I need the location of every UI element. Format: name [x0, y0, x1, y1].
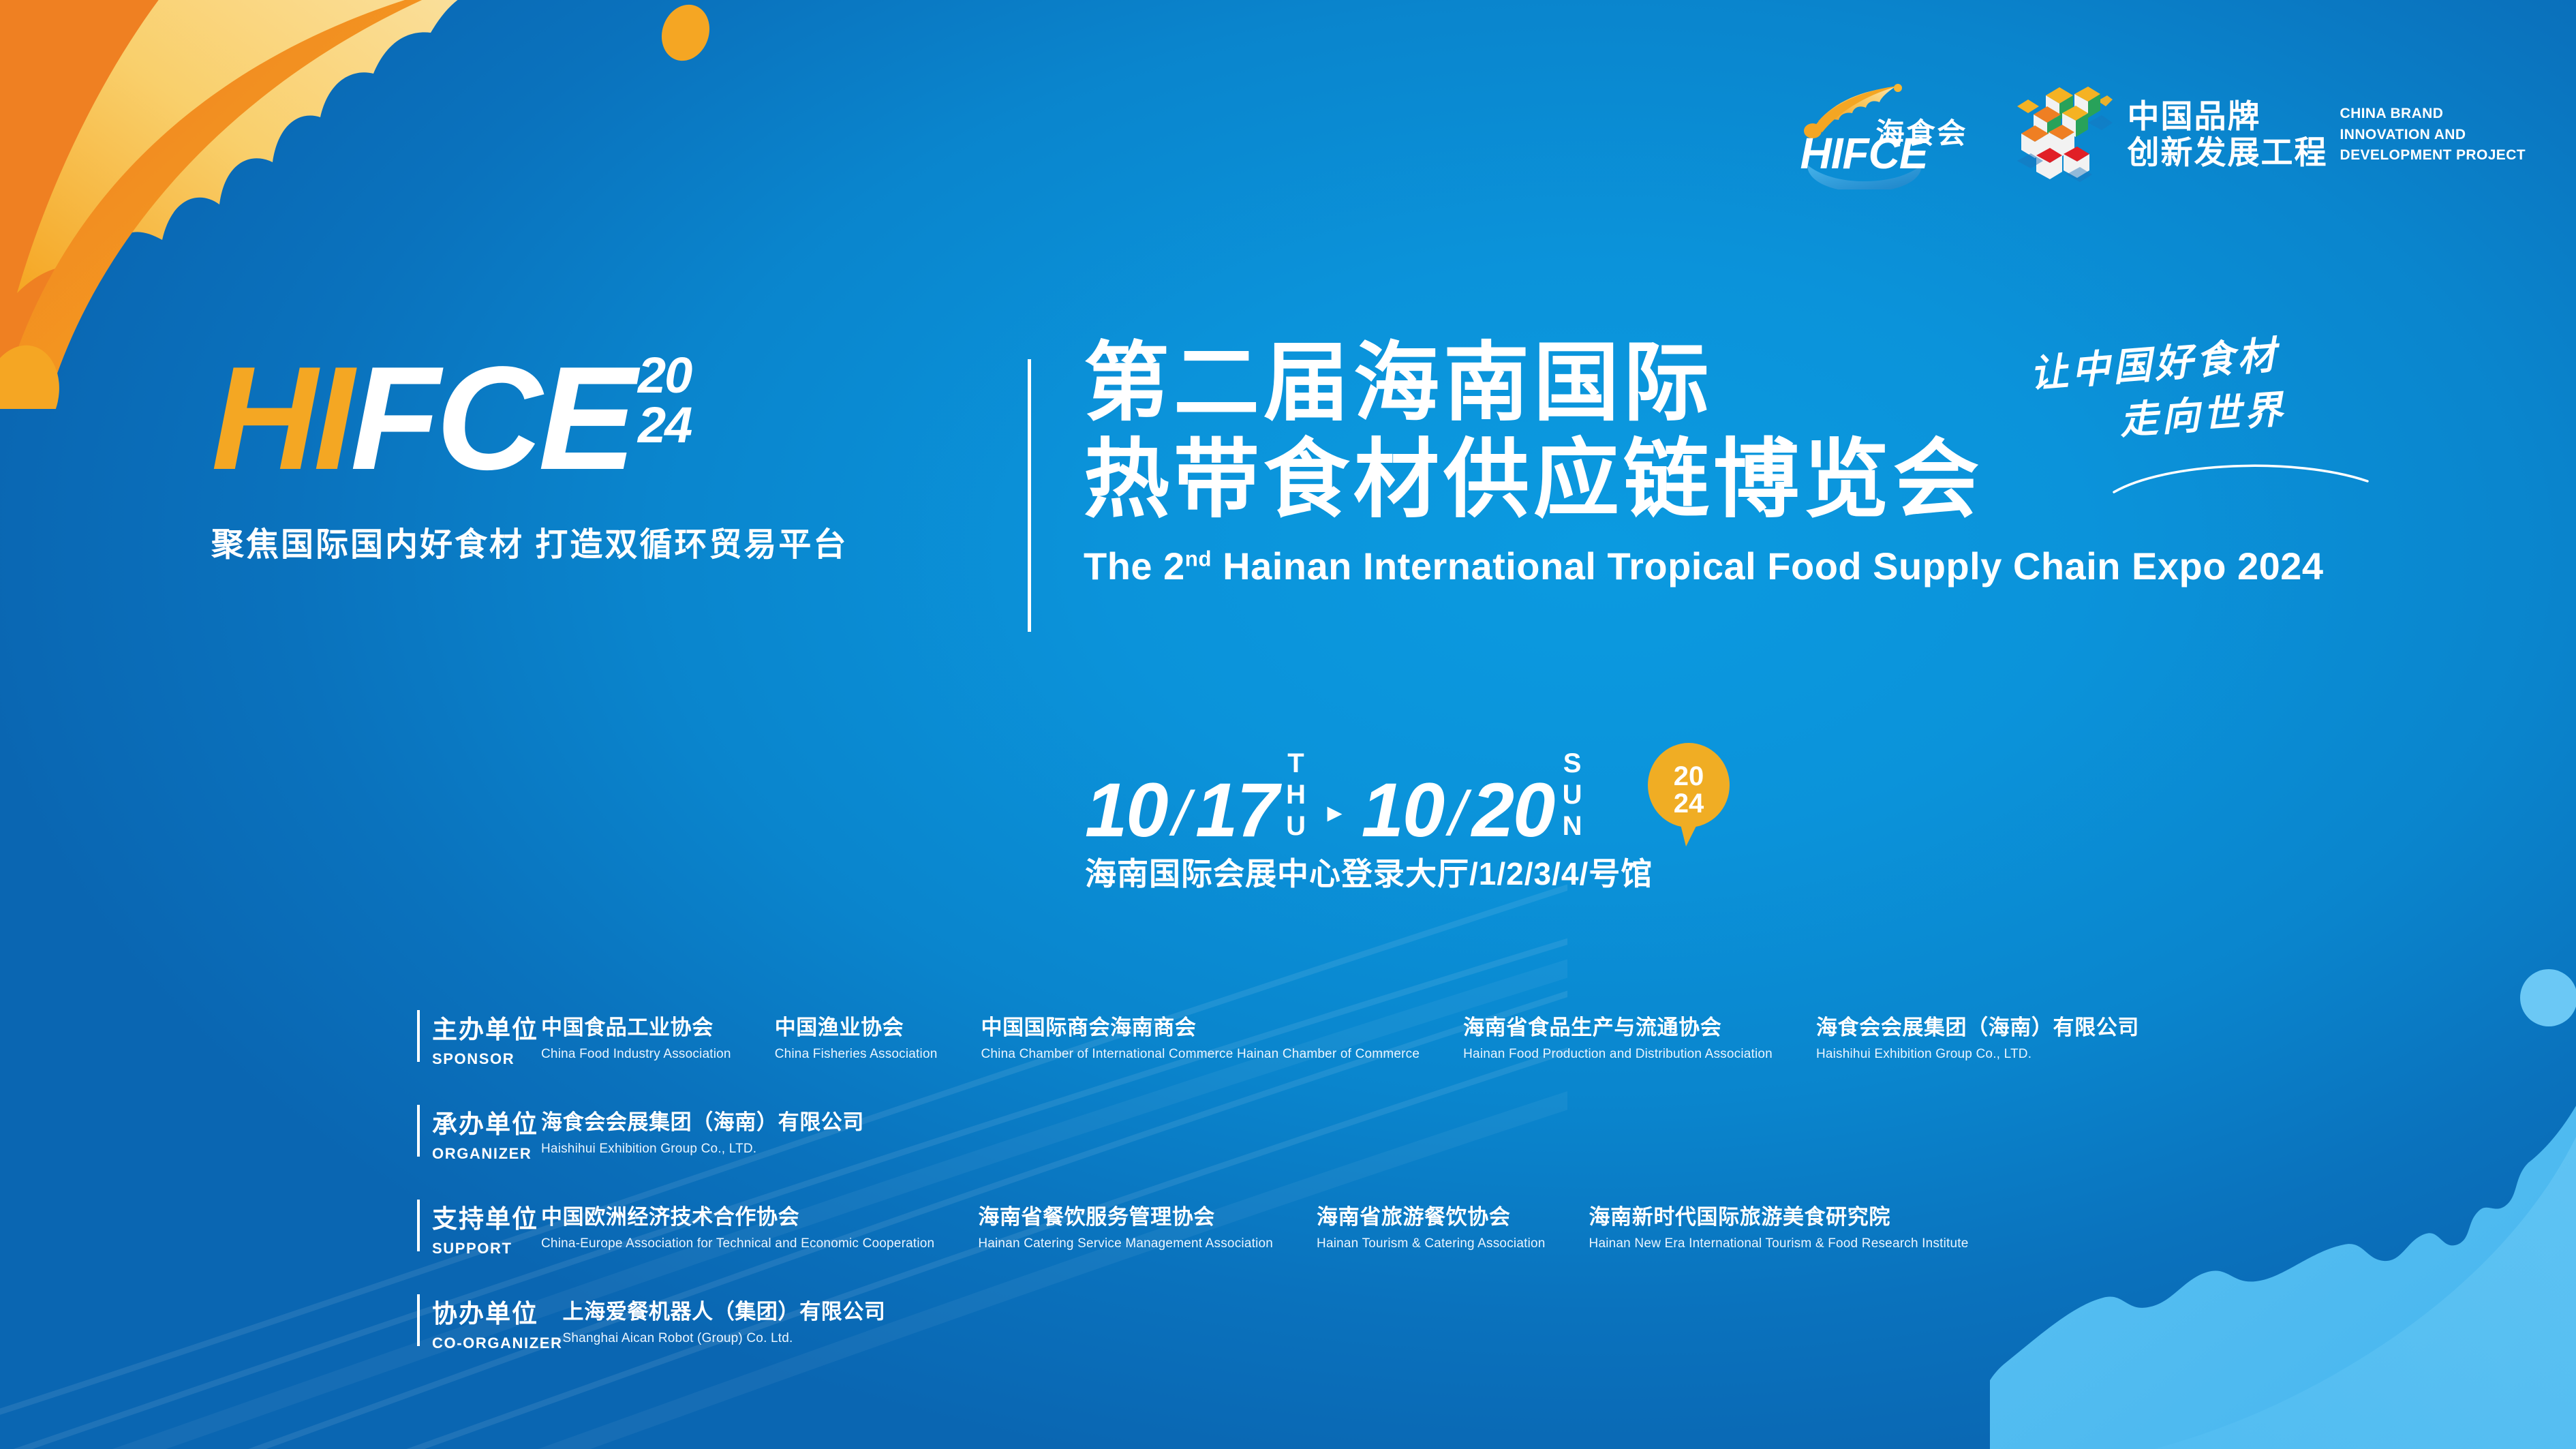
organizer-item: 海食会会展集团（海南）有限公司 Haishihui Exhibition Gro… — [541, 1105, 864, 1157]
end-month: 10 — [1362, 775, 1444, 845]
organizer-row-co-organizer: 协办单位 CO-ORGANIZER 上海爱餐机器人（集团）有限公司 Shangh… — [417, 1293, 2325, 1352]
hifce-year-bottom: 24 — [638, 401, 691, 451]
end-weekday: SUN — [1559, 748, 1584, 842]
organizer-label-cn: 支持单位 — [432, 1198, 541, 1235]
organizer-label-cn: 承办单位 — [432, 1103, 541, 1140]
organizer-item-en: Haishihui Exhibition Group Co., LTD. — [1816, 1047, 2139, 1062]
organizer-item: 中国食品工业协会 China Food Industry Association — [541, 1010, 731, 1062]
organizer-label-en: CO-ORGANIZER — [432, 1334, 563, 1352]
organizer-item-cn: 上海爱餐机器人（集团）有限公司 — [563, 1294, 886, 1325]
hifce-year-stack: 20 24 — [638, 351, 691, 450]
organizer-item-cn: 中国欧洲经济技术合作协会 — [541, 1200, 934, 1230]
organizer-label-cn: 主办单位 — [432, 1009, 541, 1046]
date-range: 10 / 17 THU ▸ 10 / 20 SUN — [1085, 748, 1653, 845]
logo-lockup: 海食会 HIFCE — [1799, 80, 2526, 189]
organizer-item-cn: 海南省食品生产与流通协会 — [1463, 1010, 1773, 1041]
china-brand-cn: 中国品牌 创新发展工程 — [2128, 99, 2328, 170]
china-brand-en-line3: DEVELOPMENT PROJECT — [2340, 145, 2526, 166]
tagline-cn: 聚焦国际国内好食材 打造双循环贸易平台 — [211, 517, 968, 565]
organizer-item: 海食会会展集团（海南）有限公司 Haishihui Exhibition Gro… — [1816, 1010, 2139, 1062]
date-arrow-icon: ▸ — [1328, 797, 1343, 827]
organizer-item-en: Hainan New Era International Tourism & F… — [1589, 1236, 1969, 1251]
china-brand-cn-line2: 创新发展工程 — [2128, 135, 2328, 171]
organizer-item-cn: 海南新时代国际旅游美食研究院 — [1589, 1200, 1969, 1230]
hifce-wordmark-lockup: HIFCE 20 24 聚焦国际国内好食材 打造双循环贸易平台 — [211, 344, 968, 565]
headline-en-prefix: The 2 — [1084, 545, 1185, 588]
hifce-wordmark-hi: HI — [211, 335, 350, 500]
organizer-item-cn: 中国国际商会海南商会 — [981, 1010, 1420, 1041]
year-badge-text: 20 24 — [1644, 743, 1734, 846]
hifce-year-top: 20 — [638, 351, 691, 401]
organizer-item-en: China Chamber of International Commerce … — [981, 1047, 1420, 1062]
venue-text: 海南国际会展中心登录大厅/1/2/3/4/号馆 — [1085, 849, 1653, 894]
organizer-item-en: Haishihui Exhibition Group Co., LTD. — [541, 1142, 864, 1157]
organizer-label-support: 支持单位 SUPPORT — [417, 1198, 541, 1257]
organizer-row-support: 支持单位 SUPPORT 中国欧洲经济技术合作协会 China-Europe A… — [417, 1198, 2325, 1257]
organizer-item-en: China-Europe Association for Technical a… — [541, 1236, 934, 1251]
organizer-item: 中国国际商会海南商会 China Chamber of Internationa… — [981, 1010, 1420, 1062]
organizer-row-organizer: 承办单位 ORGANIZER 海食会会展集团（海南）有限公司 Haishihui… — [417, 1103, 2325, 1163]
organizer-item-en: Hainan Tourism & Catering Association — [1317, 1236, 1546, 1251]
organizer-item: 海南省旅游餐饮协会 Hainan Tourism & Catering Asso… — [1317, 1200, 1546, 1251]
headline-en: The 2nd Hainan International Tropical Fo… — [1084, 544, 2324, 588]
china-brand-cn-line1: 中国品牌 — [2128, 99, 2328, 135]
organizer-label-organizer: 承办单位 ORGANIZER — [417, 1103, 541, 1163]
end-slash: / — [1449, 782, 1467, 845]
hifce-wordmark-fce: FCE — [350, 335, 632, 500]
organizer-item: 海南省食品生产与流通协会 Hainan Food Production and … — [1463, 1010, 1773, 1062]
organizer-item-en: Shanghai Aican Robot (Group) Co. Ltd. — [563, 1331, 886, 1346]
organizer-item-cn: 海南省餐饮服务管理协会 — [978, 1200, 1273, 1230]
hifce-wordmark: HIFCE 20 24 — [211, 344, 968, 491]
organizer-item-cn: 中国渔业协会 — [775, 1010, 938, 1041]
year-badge-bottom: 24 — [1674, 790, 1704, 817]
organizer-item: 中国欧洲经济技术合作协会 China-Europe Association fo… — [541, 1200, 934, 1251]
china-brand-en-line2: INNOVATION AND — [2340, 125, 2526, 145]
china-brand-logo[interactable]: 中国品牌 创新发展工程 CHINA BRAND INNOVATION AND D… — [2004, 80, 2526, 189]
organizer-label-co-organizer: 协办单位 CO-ORGANIZER — [417, 1293, 563, 1352]
organizer-label-en: SUPPORT — [432, 1240, 541, 1257]
organizers-section: 主办单位 SPONSOR 中国食品工业协会 China Food Industr… — [417, 1009, 2325, 1388]
headline-en-ordinal: nd — [1185, 547, 1212, 570]
organizer-item: 中国渔业协会 China Fisheries Association — [775, 1010, 938, 1062]
organizer-item-cn: 海食会会展集团（海南）有限公司 — [541, 1105, 864, 1135]
start-weekday: THU — [1283, 748, 1308, 842]
china-brand-en-line1: CHINA BRAND — [2340, 104, 2526, 124]
organizer-item-cn: 中国食品工业协会 — [541, 1010, 731, 1041]
start-day: 17 — [1195, 775, 1278, 845]
expo-poster: 海食会 HIFCE — [0, 0, 2576, 1449]
organizer-label-sponsor: 主办单位 SPONSOR — [417, 1009, 541, 1068]
hifce-logo[interactable]: 海食会 HIFCE — [1799, 80, 1969, 189]
organizer-item-en: Hainan Catering Service Management Assoc… — [978, 1236, 1273, 1251]
headline-en-rest: Hainan International Tropical Food Suppl… — [1212, 545, 2323, 588]
organizer-item: 海南省餐饮服务管理协会 Hainan Catering Service Mana… — [978, 1200, 1273, 1251]
organizer-item-cn: 海南省旅游餐饮协会 — [1317, 1200, 1546, 1230]
organizer-label-cn: 协办单位 — [432, 1293, 563, 1330]
organizer-items: 中国欧洲经济技术合作协会 China-Europe Association fo… — [541, 1198, 2012, 1251]
calligraphy-underline-icon — [2111, 458, 2370, 496]
organizer-label-en: ORGANIZER — [432, 1145, 541, 1163]
organizer-item-en: Hainan Food Production and Distribution … — [1463, 1047, 1773, 1062]
start-month: 10 — [1085, 775, 1167, 845]
organizer-item-en: China Fisheries Association — [775, 1047, 938, 1062]
organizer-row-sponsor: 主办单位 SPONSOR 中国食品工业协会 China Food Industr… — [417, 1009, 2325, 1068]
hifce-logo-en: HIFCE — [1800, 128, 1928, 179]
organizer-label-en: SPONSOR — [432, 1050, 541, 1068]
organizer-items: 中国食品工业协会 China Food Industry Association… — [541, 1009, 2183, 1062]
organizer-item: 上海爱餐机器人（集团）有限公司 Shanghai Aican Robot (Gr… — [563, 1294, 886, 1346]
end-day: 20 — [1472, 775, 1554, 845]
organizer-items: 上海爱餐机器人（集团）有限公司 Shanghai Aican Robot (Gr… — [563, 1293, 930, 1346]
organizer-items: 海食会会展集团（海南）有限公司 Haishihui Exhibition Gro… — [541, 1103, 908, 1157]
calligraphy-line2: 走向世界 — [2117, 379, 2287, 446]
start-slash: / — [1173, 782, 1191, 845]
headline-divider — [1028, 359, 1031, 632]
year-badge-top: 20 — [1674, 763, 1704, 790]
event-dates-block: 10 / 17 THU ▸ 10 / 20 SUN 海南国际会展中心登录大厅/1… — [1085, 748, 1653, 894]
organizer-item-cn: 海食会会展集团（海南）有限公司 — [1816, 1010, 2139, 1041]
china-brand-en: CHINA BRAND INNOVATION AND DEVELOPMENT P… — [2340, 104, 2526, 166]
organizer-item-en: China Food Industry Association — [541, 1047, 731, 1062]
isometric-cubes-icon — [2004, 80, 2113, 189]
calligraphy-slogan: 让中国好食材 走向世界 — [1990, 334, 2358, 484]
year-badge-bubble: 20 24 — [1644, 743, 1734, 846]
organizer-item: 海南新时代国际旅游美食研究院 Hainan New Era Internatio… — [1589, 1200, 1969, 1251]
